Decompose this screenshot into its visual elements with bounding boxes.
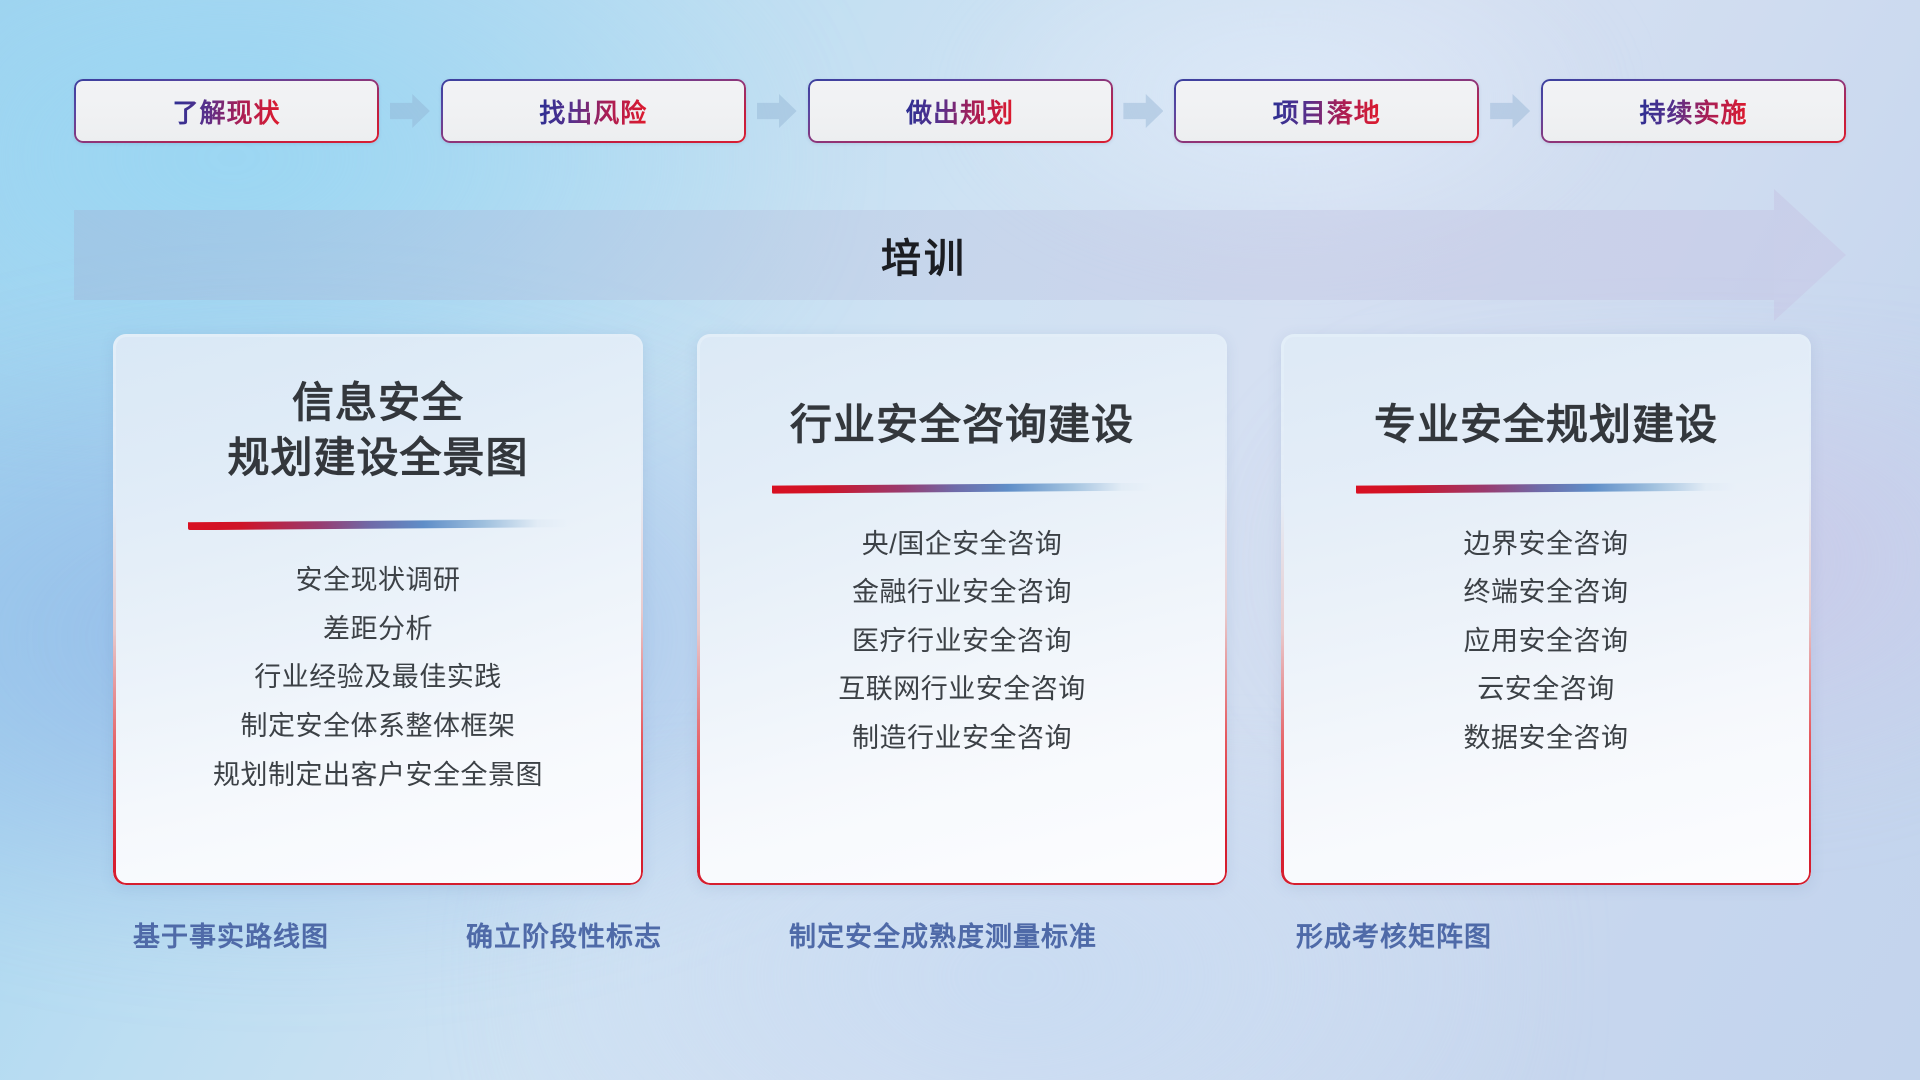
service-card-divider bbox=[772, 483, 1152, 497]
process-step-label: 持续实施 bbox=[1639, 93, 1747, 130]
process-step-label: 项目落地 bbox=[1273, 93, 1381, 130]
service-card-list: 央/国企安全咨询金融行业安全咨询医疗行业安全咨询互联网行业安全咨询制造行业安全咨… bbox=[697, 527, 1227, 757]
list-item[interactable]: 规划制定出客户安全全景图 bbox=[213, 758, 543, 794]
list-item[interactable]: 数据安全咨询 bbox=[1464, 721, 1629, 757]
footer-label-2: 确立阶段性标志 bbox=[466, 915, 662, 954]
list-item[interactable]: 制造行业安全咨询 bbox=[852, 721, 1072, 757]
service-card-title-line: 规划建设全景图 bbox=[113, 431, 643, 486]
service-card-1[interactable]: 信息安全规划建设全景图安全现状调研差距分析行业经验及最佳实践制定安全体系整体框架… bbox=[113, 334, 643, 885]
list-item[interactable]: 制定安全体系整体框架 bbox=[241, 709, 516, 745]
service-card-divider-bar bbox=[188, 519, 568, 530]
process-step-1[interactable]: 了解现状 bbox=[74, 79, 379, 143]
list-item[interactable]: 医疗行业安全咨询 bbox=[852, 624, 1072, 660]
arrow-right-icon bbox=[1490, 94, 1530, 128]
process-step-label: 了解现状 bbox=[172, 93, 280, 130]
process-step-2[interactable]: 找出风险 bbox=[441, 79, 746, 143]
list-item[interactable]: 差距分析 bbox=[323, 612, 433, 648]
service-card-title: 专业安全规划建设 bbox=[1281, 334, 1811, 453]
service-card-title: 行业安全咨询建设 bbox=[697, 334, 1227, 453]
process-step-4[interactable]: 项目落地 bbox=[1174, 79, 1479, 143]
list-item[interactable]: 金融行业安全咨询 bbox=[852, 575, 1072, 611]
process-step-label: 找出风险 bbox=[539, 93, 647, 130]
service-card-title-line: 行业安全咨询建设 bbox=[697, 398, 1227, 453]
list-item[interactable]: 互联网行业安全咨询 bbox=[838, 672, 1086, 708]
cards-row: 信息安全规划建设全景图安全现状调研差距分析行业经验及最佳实践制定安全体系整体框架… bbox=[113, 334, 1811, 885]
service-card-divider-bar bbox=[772, 483, 1152, 494]
service-card-divider bbox=[1356, 483, 1736, 497]
list-item[interactable]: 云安全咨询 bbox=[1477, 672, 1615, 708]
training-band: 培训 bbox=[74, 210, 1846, 300]
footer-label-1: 基于事实路线图 bbox=[133, 915, 329, 954]
service-card-divider-bar bbox=[1356, 483, 1736, 494]
service-card-list: 边界安全咨询终端安全咨询应用安全咨询云安全咨询数据安全咨询 bbox=[1281, 527, 1811, 757]
list-item[interactable]: 行业经验及最佳实践 bbox=[254, 660, 502, 696]
footer-label-3: 制定安全成熟度测量标准 bbox=[789, 915, 1097, 954]
list-item[interactable]: 安全现状调研 bbox=[296, 563, 461, 599]
service-card-3[interactable]: 专业安全规划建设边界安全咨询终端安全咨询应用安全咨询云安全咨询数据安全咨询 bbox=[1281, 334, 1811, 885]
process-step-3[interactable]: 做出规划 bbox=[808, 79, 1113, 143]
service-card-list: 安全现状调研差距分析行业经验及最佳实践制定安全体系整体框架规划制定出客户安全全景… bbox=[113, 563, 643, 793]
list-item[interactable]: 边界安全咨询 bbox=[1464, 527, 1629, 563]
training-band-title: 培训 bbox=[74, 210, 1774, 300]
process-step-label: 做出规划 bbox=[906, 93, 1014, 130]
list-item[interactable]: 应用安全咨询 bbox=[1464, 624, 1629, 660]
arrow-right-icon bbox=[1123, 94, 1163, 128]
service-card-title-line: 专业安全规划建设 bbox=[1281, 398, 1811, 453]
arrow-right-icon bbox=[757, 94, 797, 128]
footer-labels-row: 基于事实路线图确立阶段性标志制定安全成熟度测量标准形成考核矩阵图 bbox=[0, 915, 1920, 961]
service-card-2[interactable]: 行业安全咨询建设央/国企安全咨询金融行业安全咨询医疗行业安全咨询互联网行业安全咨… bbox=[697, 334, 1227, 885]
process-step-5[interactable]: 持续实施 bbox=[1541, 79, 1846, 143]
process-steps-row: 了解现状找出风险做出规划项目落地持续实施 bbox=[74, 79, 1846, 143]
service-card-title-line: 信息安全 bbox=[113, 376, 643, 431]
footer-label-4: 形成考核矩阵图 bbox=[1296, 915, 1492, 954]
service-card-divider bbox=[188, 519, 568, 533]
list-item[interactable]: 央/国企安全咨询 bbox=[862, 527, 1063, 563]
service-card-title: 信息安全规划建设全景图 bbox=[113, 334, 643, 485]
arrow-right-icon bbox=[390, 94, 430, 128]
list-item[interactable]: 终端安全咨询 bbox=[1464, 575, 1629, 611]
